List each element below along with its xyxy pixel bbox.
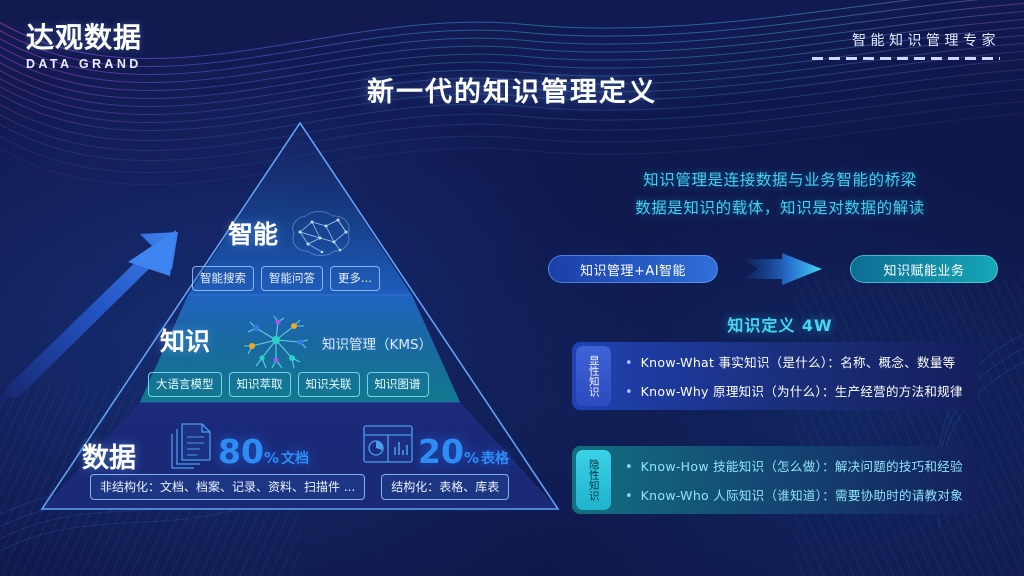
pyramid-tier-knowledge-label: 知识	[160, 322, 210, 358]
stat-tables-symbol: %	[464, 449, 479, 467]
list-item: • Know-Who 人际知识（谁知道）：需要协助时的请教对象	[625, 485, 968, 504]
chip-llm[interactable]: 大语言模型	[148, 372, 222, 397]
stat-tables-value: 20	[418, 432, 464, 471]
four-w-title: 知识定义 4W	[560, 312, 1000, 336]
chip-structured-data[interactable]: 结构化：表格、库表	[381, 474, 509, 500]
list-item: • Know-How 技能知识（怎么做）：解决问题的技巧和经验	[625, 456, 968, 475]
flow-arrow-wrap	[718, 252, 850, 286]
know-what-text: Know-What 事实知识（是什么）：名称、概念、数量等	[641, 352, 956, 371]
knowledge-card-tacit-list: • Know-How 技能知识（怎么做）：解决问题的技巧和经验 • Know-W…	[611, 446, 978, 514]
pyramid-tier-data-chips: 非结构化：文档、档案、记录、资料、扫描件 ... 结构化：表格、库表	[90, 474, 509, 500]
table-chart-icon	[364, 426, 412, 462]
pyramid-tier-intelligence-chips: 智能搜索 智能问答 更多...	[192, 266, 380, 291]
bullet-icon: •	[625, 490, 633, 503]
chip-more[interactable]: 更多...	[330, 266, 380, 291]
stat-documents-symbol: %	[264, 449, 279, 467]
knowledge-card-explicit-list: • Know-What 事实知识（是什么）：名称、概念、数量等 • Know-W…	[611, 342, 978, 410]
list-item: • Know-What 事实知识（是什么）：名称、概念、数量等	[625, 352, 968, 371]
chip-knowledge-linking[interactable]: 知识关联	[298, 372, 360, 397]
flow-pills-row: 知识管理+AI智能 知识赋能业务	[548, 252, 998, 286]
know-who-text: Know-Who 人际知识（谁知道）：需要协助时的请教对象	[641, 485, 963, 504]
know-how-text: Know-How 技能知识（怎么做）：解决问题的技巧和经验	[641, 456, 963, 475]
stat-documents-value: 80	[218, 432, 264, 471]
knowledge-card-tacit-tab: 隐性知识	[576, 450, 611, 510]
chip-intelligent-qa[interactable]: 智能问答	[261, 266, 323, 291]
stat-tables-unit: 表格	[481, 451, 509, 467]
lede-line-1: 知识管理是连接数据与业务智能的桥梁	[560, 166, 1000, 194]
stat-tables: 20%表格	[418, 432, 509, 471]
chip-unstructured-data[interactable]: 非结构化：文档、档案、记录、资料、扫描件 ...	[90, 474, 365, 500]
right-arrow-icon	[742, 252, 826, 286]
knowledge-pyramid: 智能 智能搜索 智能问答 更多... 知识 知识管理（KMS） 大语言模型 知识…	[0, 0, 600, 576]
tagline: 智能知识管理专家	[812, 30, 1000, 60]
pill-knowledge-management-ai[interactable]: 知识管理+AI智能	[548, 255, 718, 283]
pyramid-tier-knowledge-chips: 大语言模型 知识萃取 知识关联 知识图谱	[148, 372, 429, 397]
bullet-icon: •	[625, 461, 633, 474]
stat-documents-unit: 文档	[281, 451, 309, 467]
chip-knowledge-extraction[interactable]: 知识萃取	[229, 372, 291, 397]
chip-knowledge-graph[interactable]: 知识图谱	[367, 372, 429, 397]
pill-knowledge-empowers-business[interactable]: 知识赋能业务	[850, 255, 998, 283]
tagline-text: 智能知识管理专家	[812, 30, 1000, 50]
list-item: • Know-Why 原理知识（为什么）：生产经营的方法和规律	[625, 381, 968, 400]
lede-line-2: 数据是知识的载体，知识是对数据的解读	[560, 194, 1000, 222]
bullet-icon: •	[625, 386, 633, 399]
knowledge-card-explicit-tab: 显性知识	[576, 346, 611, 406]
slide-root: 达观数据 DATA GRAND 智能知识管理专家 新一代的知识管理定义	[0, 0, 1024, 576]
knowledge-card-explicit: 显性知识 • Know-What 事实知识（是什么）：名称、概念、数量等 • K…	[572, 342, 978, 410]
knowledge-card-tacit: 隐性知识 • Know-How 技能知识（怎么做）：解决问题的技巧和经验 • K…	[572, 446, 978, 514]
tagline-dashed-rule	[812, 57, 1000, 60]
know-why-text: Know-Why 原理知识（为什么）：生产经营的方法和规律	[641, 381, 963, 400]
pyramid-tier-intelligence-label: 智能	[228, 215, 278, 251]
bullet-icon: •	[625, 357, 633, 370]
chip-intelligent-search[interactable]: 智能搜索	[192, 266, 254, 291]
lede-statement: 知识管理是连接数据与业务智能的桥梁 数据是知识的载体，知识是对数据的解读	[560, 166, 1000, 222]
pyramid-tier-data-label: 数据	[82, 436, 136, 475]
pyramid-tier-knowledge-caption: 知识管理（KMS）	[322, 333, 432, 353]
stat-documents: 80%文档	[218, 432, 309, 471]
